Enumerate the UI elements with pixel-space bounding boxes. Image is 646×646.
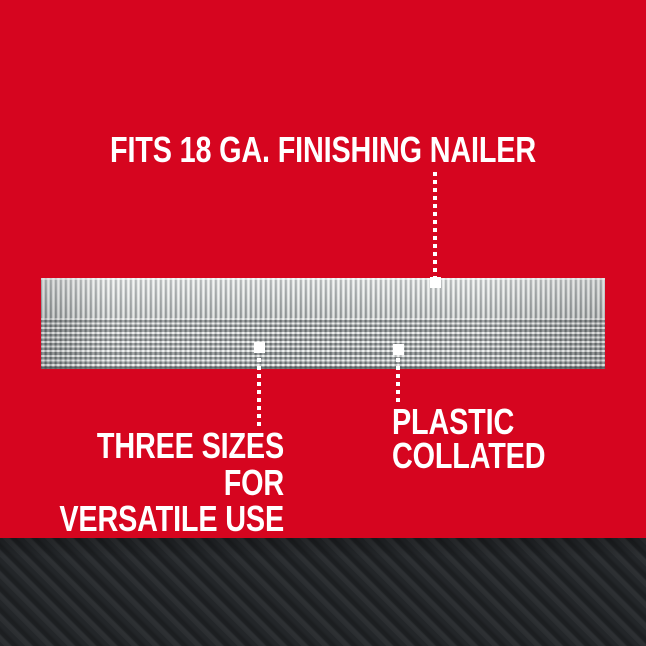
collated-brad-nail-strip [41,278,605,369]
strip-bottom-edge [41,367,605,369]
nail-collation-band [41,318,605,369]
callout-marker-plastic-collated [393,344,404,355]
nail-upper-band [41,278,605,318]
strip-top-edge [41,278,605,280]
callout-marker-three-sizes [254,342,265,353]
callout-marker-fits-nailer [430,277,441,288]
product-feature-graphic: FITS 18 GA. FINISHING NAILER THREE SIZES… [0,0,646,646]
callout-label-plastic-collated: PLASTIC COLLATED [392,405,646,473]
callout-label-three-sizes: THREE SIZES FOR VERSATILE USE [57,428,284,538]
leader-line-three-sizes [257,358,261,426]
callout-label-fits-nailer: FITS 18 GA. FINISHING NAILER [65,133,582,167]
footer-diagonal-stripe-band [0,538,646,646]
leader-line-plastic-collated [396,358,400,404]
leader-line-fits-nailer [433,172,437,280]
